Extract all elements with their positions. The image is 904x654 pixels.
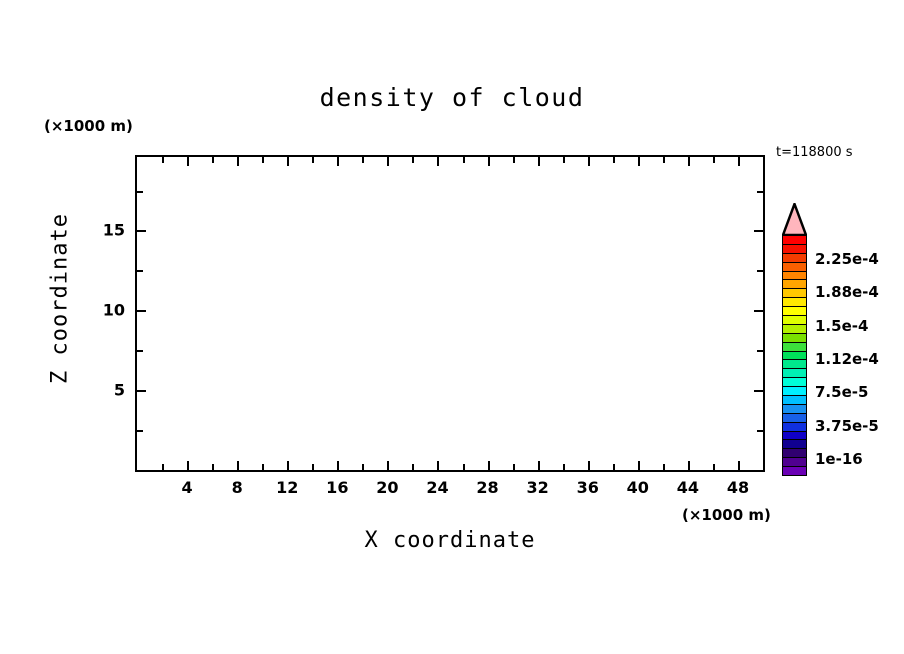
- x-axis-tick-top: [488, 157, 490, 166]
- x-axis-tick: [412, 464, 414, 470]
- x-axis-tick: [262, 464, 264, 470]
- x-tick-label: 4: [182, 478, 193, 497]
- colorbar: [782, 235, 807, 475]
- x-axis-tick-top: [237, 157, 239, 166]
- colorbar-tick-label: 1e-16: [815, 450, 863, 468]
- colorbar-tick-label: 7.5e-5: [815, 383, 868, 401]
- over-range-arrow-icon: [783, 204, 806, 235]
- x-axis-tick-top: [287, 157, 289, 166]
- x-axis-tick: [588, 461, 590, 470]
- x-tick-label: 20: [376, 478, 398, 497]
- x-tick-label: 8: [232, 478, 243, 497]
- density-field-heatmap: [137, 157, 763, 470]
- x-axis-tick: [688, 461, 690, 470]
- x-tick-label: 28: [476, 478, 498, 497]
- x-axis-tick: [563, 464, 565, 470]
- y-axis-tick-right: [754, 310, 763, 312]
- x-axis-tick-top: [613, 157, 615, 163]
- x-axis-tick: [437, 461, 439, 470]
- x-tick-label: 44: [677, 478, 699, 497]
- x-tick-label: 48: [727, 478, 749, 497]
- x-axis-tick: [738, 461, 740, 470]
- page-title: density of cloud: [0, 83, 904, 112]
- y-tick-label: 15: [93, 221, 125, 240]
- colorbar-over-arrow: [782, 203, 807, 236]
- y-axis-tick: [137, 430, 143, 432]
- x-axis-tick: [463, 464, 465, 470]
- x-axis-tick: [538, 461, 540, 470]
- y-axis-tick: [137, 270, 143, 272]
- x-axis-tick-top: [463, 157, 465, 163]
- x-axis-tick-top: [212, 157, 214, 163]
- x-axis-tick-top: [738, 157, 740, 166]
- y-tick-label: 10: [93, 301, 125, 320]
- x-axis-tick: [237, 461, 239, 470]
- x-axis-tick: [638, 461, 640, 470]
- x-axis-tick-top: [187, 157, 189, 166]
- x-tick-label: 40: [627, 478, 649, 497]
- x-axis-tick: [187, 461, 189, 470]
- x-tick-label: 24: [426, 478, 448, 497]
- x-axis-tick-top: [688, 157, 690, 166]
- colorbar-tick-label: 1.5e-4: [815, 317, 868, 335]
- x-axis-tick-top: [638, 157, 640, 166]
- y-axis-tick: [137, 350, 143, 352]
- x-axis-tick: [663, 464, 665, 470]
- x-axis-tick-top: [362, 157, 364, 163]
- y-axis-unit-label: (×1000 m): [44, 117, 133, 135]
- x-axis-unit-label: (×1000 m): [682, 506, 771, 524]
- x-axis-tick: [613, 464, 615, 470]
- x-axis-tick-top: [713, 157, 715, 163]
- x-axis-tick-top: [513, 157, 515, 163]
- x-axis-tick: [337, 461, 339, 470]
- x-axis-tick: [763, 464, 765, 470]
- y-axis-tick: [137, 310, 146, 312]
- x-axis-tick: [287, 461, 289, 470]
- x-axis-tick: [162, 464, 164, 470]
- y-axis-tick-right: [754, 390, 763, 392]
- x-axis-tick: [713, 464, 715, 470]
- y-axis-tick-right: [754, 230, 763, 232]
- x-axis-tick-top: [387, 157, 389, 166]
- colorbar-band: [782, 466, 807, 476]
- y-axis-tick: [137, 390, 146, 392]
- x-axis-tick-top: [563, 157, 565, 163]
- y-axis-tick: [137, 191, 143, 193]
- y-axis-title: Z coordinate: [48, 199, 73, 399]
- x-axis-tick-top: [763, 157, 765, 163]
- x-axis-tick-top: [312, 157, 314, 163]
- colorbar-tick-label: 1.12e-4: [815, 350, 879, 368]
- y-axis-tick-right: [757, 270, 763, 272]
- y-axis-tick-right: [757, 191, 763, 193]
- x-axis-tick: [362, 464, 364, 470]
- x-tick-label: 12: [276, 478, 298, 497]
- timestamp-annotation: t=118800 s: [776, 145, 853, 160]
- x-axis-tick: [212, 464, 214, 470]
- x-axis-tick-top: [437, 157, 439, 166]
- x-axis-tick-top: [262, 157, 264, 163]
- colorbar-tick-label: 3.75e-5: [815, 417, 879, 435]
- y-tick-label: 5: [93, 381, 125, 400]
- x-axis-tick: [513, 464, 515, 470]
- x-axis-tick-top: [412, 157, 414, 163]
- y-axis-tick: [137, 230, 146, 232]
- x-axis-tick-top: [162, 157, 164, 163]
- x-tick-label: 16: [326, 478, 348, 497]
- y-axis-tick-right: [757, 350, 763, 352]
- x-axis-tick: [312, 464, 314, 470]
- figure-root: density of cloud (×1000 m) t=118800 s 48…: [0, 0, 904, 654]
- y-axis-tick-right: [757, 430, 763, 432]
- x-tick-label: 36: [577, 478, 599, 497]
- x-axis-tick: [387, 461, 389, 470]
- x-axis-tick-top: [538, 157, 540, 166]
- x-axis-tick-top: [337, 157, 339, 166]
- x-axis-tick-top: [663, 157, 665, 163]
- colorbar-tick-label: 1.88e-4: [815, 283, 879, 301]
- colorbar-tick-label: 2.25e-4: [815, 250, 879, 268]
- plot-area: [135, 155, 765, 472]
- x-axis-title: X coordinate: [135, 528, 765, 553]
- x-tick-label: 32: [526, 478, 548, 497]
- x-axis-tick: [488, 461, 490, 470]
- x-axis-tick-top: [588, 157, 590, 166]
